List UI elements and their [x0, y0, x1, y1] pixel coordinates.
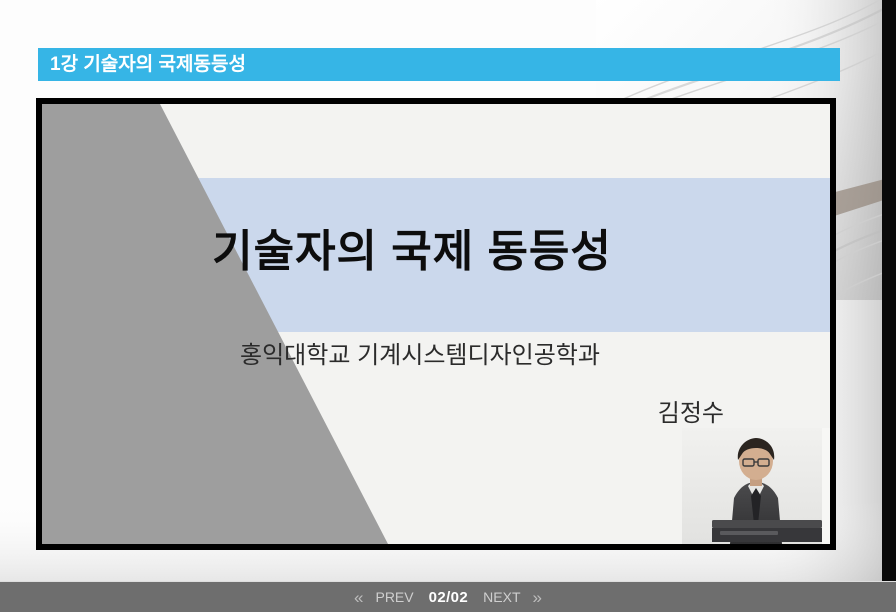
lecture-title-ribbon: 1강 기술자의 국제동등성: [38, 48, 840, 81]
slide-main-title: 기술자의 국제 동등성: [42, 230, 782, 274]
next-chevron-icon[interactable]: »: [528, 589, 547, 606]
right-edge-gutter: [882, 0, 896, 582]
slide-presenter-name: 김정수: [42, 402, 798, 426]
slide-canvas: 기술자의 국제 동등성 홍익대학교 기계시스템디자인공학과 김정수: [42, 104, 830, 544]
prev-chevron-icon[interactable]: «: [349, 589, 368, 606]
lecture-title-text: 1강 기술자의 국제동등성: [38, 55, 246, 74]
slide-frame: 기술자의 국제 동등성 홍익대학교 기계시스템디자인공학과 김정수: [36, 98, 836, 550]
presenter-video-overlay[interactable]: [682, 428, 830, 544]
slide-navigation-bar: « PREV 02/02 NEXT »: [0, 582, 896, 612]
slide-affiliation: 홍익대학교 기계시스템디자인공학과: [42, 344, 798, 368]
next-button[interactable]: NEXT: [476, 590, 527, 604]
lecture-player: 1강 기술자의 국제동등성 기술자의 국제 동등성 홍익대학교 기계시스템디자인…: [0, 0, 896, 612]
page-counter: 02/02: [421, 590, 477, 605]
prev-button[interactable]: PREV: [368, 590, 420, 604]
presenter-video-frame: [682, 428, 830, 544]
